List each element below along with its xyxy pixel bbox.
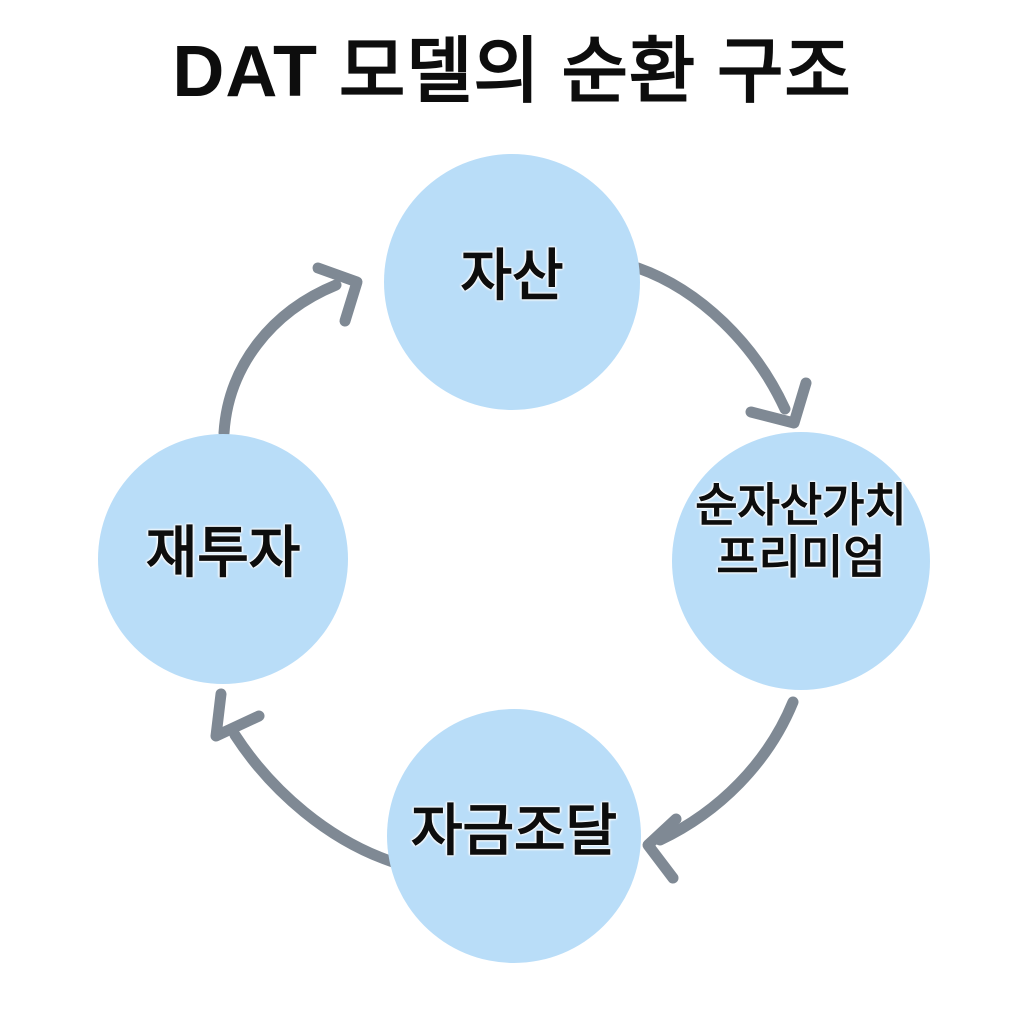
node-label-asset: 자산: [384, 245, 640, 308]
arrow-funding-to-reinvest: [216, 694, 393, 862]
diagram-canvas: DAT 모델의 순환 구조 자산 순자산가치 프리미엄 자: [0, 0, 1024, 1024]
node-label-funding: 자금조달: [386, 800, 642, 863]
node-label-nav-premium: 순자산가치 프리미엄: [664, 480, 938, 583]
node-label-reinvest: 재투자: [98, 522, 348, 585]
arrow-asset-to-nav: [638, 268, 806, 423]
arrow-nav-to-funding: [648, 702, 793, 878]
arrow-reinvest-to-asset: [224, 268, 357, 433]
